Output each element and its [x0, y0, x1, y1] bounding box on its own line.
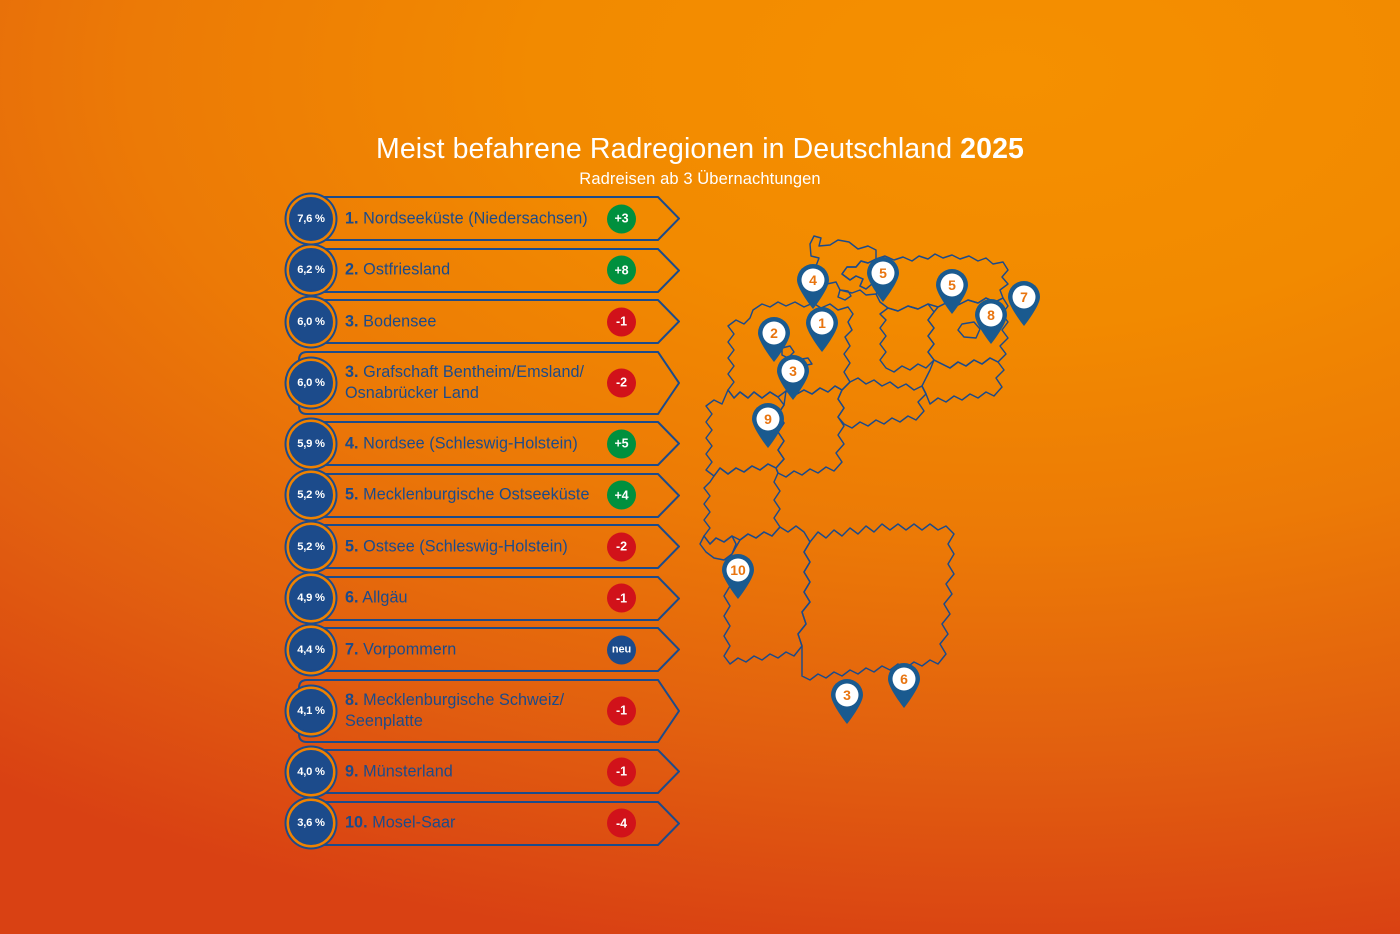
map-pin-icon[interactable]: 8	[975, 299, 1007, 344]
ranking-row[interactable]: 5,9 %4. Nordsee (Schleswig-Holstein)+5	[288, 421, 680, 466]
page-title: Meist befahrene Radregionen in Deutschla…	[0, 132, 1400, 166]
ranking-row[interactable]: 6,2 %2. Ostfriesland+8	[288, 248, 680, 293]
rank-position: 4.	[345, 434, 359, 452]
map-pin-icon[interactable]: 5	[867, 257, 899, 302]
ranking-row[interactable]: 5,2 %5. Ostsee (Schleswig-Holstein)-2	[288, 524, 680, 569]
rank-position: 5.	[345, 537, 359, 555]
region-name: Münsterland	[363, 762, 453, 780]
percent-bubble: 5,9 %	[289, 422, 333, 466]
region-label: 7. Vorpommern	[345, 639, 615, 660]
change-badge: +5	[607, 429, 636, 458]
region-label: 1. Nordseeküste (Niedersachsen)	[345, 208, 615, 229]
rank-position: 7.	[345, 640, 359, 658]
percent-bubble: 6,2 %	[289, 248, 333, 292]
percent-bubble: 3,6 %	[289, 801, 333, 845]
header: Meist befahrene Radregionen in Deutschla…	[0, 132, 1400, 190]
region-label: 5. Ostsee (Schleswig-Holstein)	[345, 536, 615, 557]
region-name: Nordseeküste (Niedersachsen)	[363, 209, 588, 227]
ranking-row[interactable]: 3,6 %10. Mosel-Saar-4	[288, 801, 680, 846]
change-badge: -1	[607, 757, 636, 786]
percent-bubble: 4,4 %	[289, 628, 333, 672]
region-name: Mecklenburgische Schweiz/	[363, 691, 564, 709]
pin-number: 6	[900, 671, 908, 687]
change-badge: -1	[607, 584, 636, 613]
ranking-row[interactable]: 4,0 %9. Münsterland-1	[288, 749, 680, 794]
pin-number: 4	[809, 272, 817, 288]
percent-bubble: 4,1 %	[289, 689, 333, 733]
region-name: Nordsee (Schleswig-Holstein)	[363, 434, 578, 452]
change-badge: -1	[607, 696, 636, 725]
percent-bubble: 5,2 %	[289, 473, 333, 517]
region-name: Bodensee	[363, 312, 436, 330]
change-badge: +3	[607, 204, 636, 233]
rank-position: 6.	[345, 589, 359, 607]
map-borders	[700, 236, 1008, 680]
page-title-main: Meist befahrene Radregionen in Deutschla…	[376, 133, 960, 165]
region-name: Vorpommern	[363, 640, 456, 658]
change-badge: -1	[607, 307, 636, 336]
rank-position: 3.	[345, 363, 359, 381]
change-badge: -2	[607, 532, 636, 561]
rank-position: 9.	[345, 762, 359, 780]
map-pin-icon[interactable]: 5	[936, 269, 968, 314]
pin-number: 10	[730, 562, 746, 578]
pin-number: 2	[770, 325, 778, 341]
change-badge: -2	[607, 368, 636, 397]
region-label: 2. Ostfriesland	[345, 260, 615, 281]
percent-bubble: 7,6 %	[289, 197, 333, 241]
pin-number: 5	[879, 265, 887, 281]
region-name: Ostsee (Schleswig-Holstein)	[363, 537, 568, 555]
rank-position: 10.	[345, 814, 368, 832]
region-name: Mosel-Saar	[372, 814, 455, 832]
region-label: 4. Nordsee (Schleswig-Holstein)	[345, 433, 615, 454]
pin-number: 1	[818, 315, 826, 331]
percent-bubble: 5,2 %	[289, 525, 333, 569]
pin-number: 3	[789, 363, 797, 379]
change-badge: neu	[607, 635, 636, 664]
pin-number: 3	[843, 687, 851, 703]
map-pin-icon[interactable]: 4	[797, 264, 829, 309]
region-name-line2: Seenplatte	[345, 712, 423, 730]
region-label: 3. Grafschaft Bentheim/Emsland/Osnabrück…	[345, 362, 615, 404]
rank-position: 8.	[345, 691, 359, 709]
change-badge: +8	[607, 256, 636, 285]
ranking-row[interactable]: 6,0 %3. Bodensee-1	[288, 299, 680, 344]
ranking-row[interactable]: 4,4 %7. Vorpommernneu	[288, 627, 680, 672]
region-label: 5. Mecklenburgische Ostseeküste	[345, 485, 615, 506]
ranking-row[interactable]: 7,6 %1. Nordseeküste (Niedersachsen)+3	[288, 196, 680, 241]
region-label: 9. Münsterland	[345, 761, 615, 782]
region-name-line2: Osnabrücker Land	[345, 384, 479, 402]
pin-number: 9	[764, 411, 772, 427]
rank-position: 5.	[345, 486, 359, 504]
percent-bubble: 4,0 %	[289, 750, 333, 794]
page-subtitle: Radreisen ab 3 Übernachtungen	[0, 169, 1400, 190]
percent-bubble: 6,0 %	[289, 300, 333, 344]
ranking-row[interactable]: 5,2 %5. Mecklenburgische Ostseeküste+4	[288, 473, 680, 518]
percent-bubble: 4,9 %	[289, 576, 333, 620]
region-label: 8. Mecklenburgische Schweiz/Seenplatte	[345, 690, 615, 732]
region-label: 6. Allgäu	[345, 588, 615, 609]
region-name: Allgäu	[362, 589, 407, 607]
rank-position: 3.	[345, 312, 359, 330]
rank-position: 2.	[345, 261, 359, 279]
change-badge: +4	[607, 481, 636, 510]
change-badge: -4	[607, 809, 636, 838]
map-pin-icon[interactable]: 1	[806, 307, 838, 352]
infographic-canvas: Meist befahrene Radregionen in Deutschla…	[0, 0, 1400, 934]
region-label: 3. Bodensee	[345, 311, 615, 332]
region-name: Grafschaft Bentheim/Emsland/	[363, 363, 584, 381]
region-label: 10. Mosel-Saar	[345, 813, 615, 834]
ranking-list: 7,6 %1. Nordseeküste (Niedersachsen)+36,…	[288, 196, 680, 852]
pin-number: 7	[1020, 289, 1028, 305]
region-name: Mecklenburgische Ostseeküste	[363, 486, 589, 504]
pin-number: 8	[987, 307, 995, 323]
germany-map: 4557812391036	[690, 232, 1110, 752]
rank-position: 1.	[345, 209, 359, 227]
map-pin-icon[interactable]: 6	[888, 663, 920, 708]
ranking-row[interactable]: 4,9 %6. Allgäu-1	[288, 576, 680, 621]
pin-number: 5	[948, 277, 956, 293]
ranking-row[interactable]: 6,0 %3. Grafschaft Bentheim/Emsland/Osna…	[288, 351, 680, 415]
ranking-row[interactable]: 4,1 %8. Mecklenburgische Schweiz/Seenpla…	[288, 679, 680, 743]
map-pin-icon[interactable]: 3	[831, 679, 863, 724]
page-title-year: 2025	[960, 133, 1024, 165]
percent-bubble: 6,0 %	[289, 361, 333, 405]
map-pin-icon[interactable]: 7	[1008, 281, 1040, 326]
region-name: Ostfriesland	[363, 261, 450, 279]
map-pin-icon[interactable]: 2	[758, 317, 790, 362]
map-pin-icon[interactable]: 9	[752, 403, 784, 448]
